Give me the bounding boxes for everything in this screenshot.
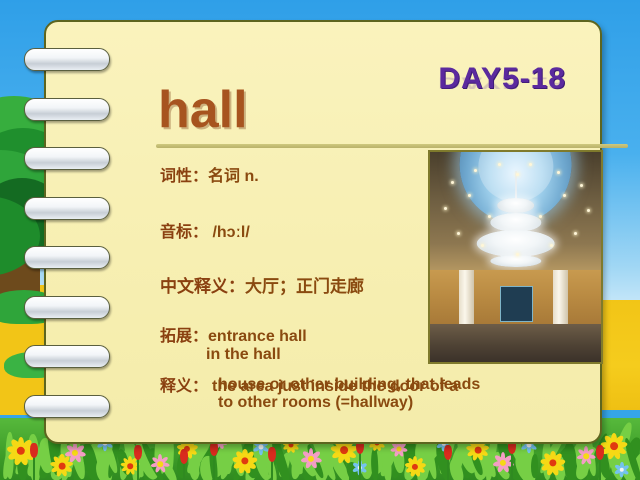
tulip-stem [213,454,215,480]
tulip-stem [137,458,139,480]
entry-value-line3: to other rooms (=hallway) [218,394,560,412]
pink-flower [576,446,596,466]
photo-floor-medallion [471,333,560,360]
spiral-binding-ring [24,296,110,319]
photo-chandelier-tier [490,255,541,268]
tulip-stem [447,458,449,480]
entry-label: 释义： [160,378,208,395]
pink-flower [64,442,86,464]
spiral-binding-ring [24,197,110,220]
tulip-stem [33,456,35,480]
spiral-binding-ring [24,147,110,170]
photo-ceiling-light [516,173,519,176]
spiral-binding-ring [24,98,110,121]
red-tulip [596,445,604,460]
red-tulip [30,443,38,458]
entry-english-definition: 释义：the area just inside the door of a ho… [160,372,560,412]
page-title: hall [158,84,248,136]
yellow-daisy [540,450,566,476]
notebook-page: DAY5-18 DAY5-18 hall 词性：名词 n. 音标： /hɔːl/… [44,20,602,444]
tulip-stem [511,452,513,480]
photo-column [459,270,474,325]
flashcard-scene: DAY5-18 DAY5-18 hall 词性：名词 n. 音标： /hɔːl/… [0,0,640,480]
spiral-binding-ring [24,246,110,269]
photo-ceiling-light [574,232,577,235]
title-divider [156,144,628,148]
entry-label: 拓展： [160,328,208,345]
grass-leaf [531,454,538,478]
tulip-stem [599,458,601,480]
tulip-stem [183,462,185,480]
red-tulip [134,445,142,460]
entry-value-line2: in the hall [206,346,307,364]
blue-flower [614,462,630,478]
photo-ceiling-light [468,194,471,197]
entry-value-line2: house or other building, that leads [218,376,560,394]
entry-value: /hɔːl/ [208,224,250,241]
entry-chinese-meaning: 中文释义：大厅；正门走廊 [160,272,364,297]
entry-value: 名词 n. [208,168,259,185]
entry-label: 词性： [160,168,208,185]
spiral-binding-ring [24,48,110,71]
photo-column [553,270,568,325]
entry-phonetic: 音标： /hɔːl/ [160,218,250,242]
pink-flower [300,448,322,470]
entry-collocations: 拓展：entrance hall in the hall [160,322,307,364]
entry-value: 大厅；正门走廊 [245,277,364,296]
hall-photo [428,150,603,364]
photo-chandelier-tier [497,198,535,213]
photo-entrance-door [500,286,533,322]
spiral-binding-ring [24,395,110,418]
photo-ceiling-light [516,253,519,256]
yellow-daisy [404,456,426,478]
photo-ceiling-light [557,171,560,174]
entry-label: 中文释义： [160,277,245,296]
entry-part-of-speech: 词性：名词 n. [160,162,259,186]
pink-flower [150,454,170,474]
yellow-daisy [600,432,628,460]
spiral-binding-ring [24,345,110,368]
red-tulip [444,445,452,460]
day-label-reflection: DAY5-18 [438,73,566,92]
tulip-stem [271,460,273,480]
red-tulip [180,449,188,464]
photo-ceiling-light [529,163,532,166]
entry-value: entrance hall [208,328,307,345]
red-tulip [268,447,276,462]
entry-label: 音标： [160,224,208,241]
tulip-stem [359,452,361,480]
photo-ceiling-light [444,207,447,210]
